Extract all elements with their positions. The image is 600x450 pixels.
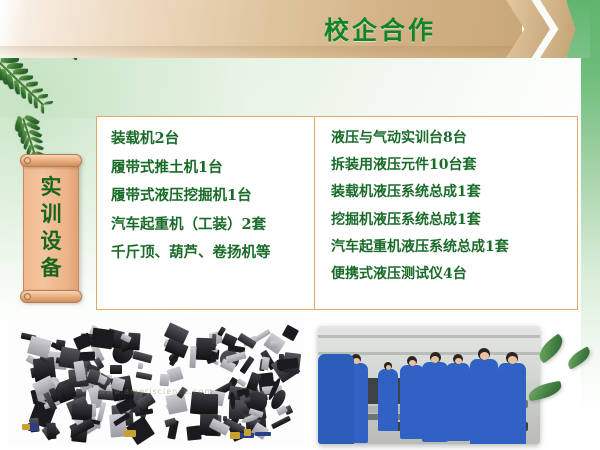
hydraulic-part — [255, 432, 271, 436]
section-scroll-banner: 实 训 设 备 — [20, 152, 82, 302]
fern-leaflet — [21, 86, 26, 99]
page-title: 校企合作 — [0, 0, 522, 58]
background-right-green-strip — [581, 0, 600, 450]
student-figure — [470, 359, 498, 444]
student-face — [455, 358, 462, 364]
hydraulic-part — [110, 365, 122, 374]
section-label-char: 备 — [41, 255, 62, 282]
photo-watermark: www.ameriscience.com — [8, 387, 304, 396]
scroll-knob-bottom — [24, 293, 31, 300]
hydraulic-parts-photo: www.ameriscience.com — [8, 318, 304, 446]
section-label-char: 实 — [41, 174, 62, 201]
hydraulic-part — [198, 394, 218, 414]
fern-leaflet — [41, 105, 45, 114]
hydraulic-part — [277, 358, 299, 370]
list-item: 装载机2台 — [111, 125, 314, 154]
photo-beam — [318, 335, 540, 338]
hydraulic-part — [195, 338, 212, 361]
equipment-right-column: 液压与气动实训台8台 拆装用液压元件10台套 装载机液压系统总成1套 挖掘机液压… — [315, 117, 577, 309]
fern-leaflet — [28, 92, 32, 103]
list-item: 装载机液压系统总成1套 — [331, 179, 577, 206]
section-label: 实 训 设 备 — [23, 162, 79, 294]
title-banner: 校企合作 — [0, 0, 582, 58]
instructor-figure — [318, 354, 354, 444]
student-figure — [422, 362, 448, 442]
student-figure — [498, 363, 526, 444]
student-figure — [378, 369, 398, 431]
hydraulic-part — [124, 430, 136, 437]
fern-leaflet — [34, 98, 38, 108]
student-figure — [400, 365, 424, 439]
student-face — [409, 360, 416, 366]
hydraulic-part — [46, 422, 56, 438]
section-label-char: 训 — [41, 201, 62, 228]
hydraulic-part — [230, 432, 240, 439]
list-item: 汽车起重机（工装）2套 — [111, 211, 314, 240]
hydraulic-part — [90, 327, 113, 349]
classroom-training-photo — [318, 326, 540, 444]
hydraulic-part — [22, 424, 30, 430]
slide-canvas: 校企合作 实 训 设 备 装载机2台 履带式推土机1台 履带式液压挖掘机1台 汽… — [0, 0, 600, 450]
list-item: 履带式推土机1台 — [111, 154, 314, 183]
equipment-content-box: 装载机2台 履带式推土机1台 履带式液压挖掘机1台 汽车起重机（工装）2套 千斤… — [96, 116, 578, 310]
list-item: 拆装用液压元件10台套 — [331, 152, 577, 179]
equipment-left-column: 装载机2台 履带式推土机1台 履带式液压挖掘机1台 汽车起重机（工装）2套 千斤… — [97, 117, 315, 309]
student-face — [386, 365, 391, 370]
list-item: 液压与气动实训台8台 — [331, 125, 577, 152]
student-face — [431, 356, 439, 363]
list-item: 便携式液压测试仪4台 — [331, 261, 577, 288]
list-item: 履带式液压挖掘机1台 — [111, 182, 314, 211]
hydraulic-part — [270, 341, 278, 349]
student-figure — [446, 363, 470, 441]
list-item: 挖掘机液压系统总成1套 — [331, 207, 577, 234]
hydraulic-part — [160, 374, 169, 387]
list-item: 汽车起重机液压系统总成1套 — [331, 234, 577, 261]
list-item: 千斤顶、葫芦、卷扬机等 — [111, 239, 314, 268]
hydraulic-part — [189, 346, 196, 369]
hydraulic-part — [244, 429, 251, 435]
section-label-char: 设 — [41, 228, 62, 255]
student-face — [508, 356, 517, 363]
student-face — [480, 352, 489, 359]
